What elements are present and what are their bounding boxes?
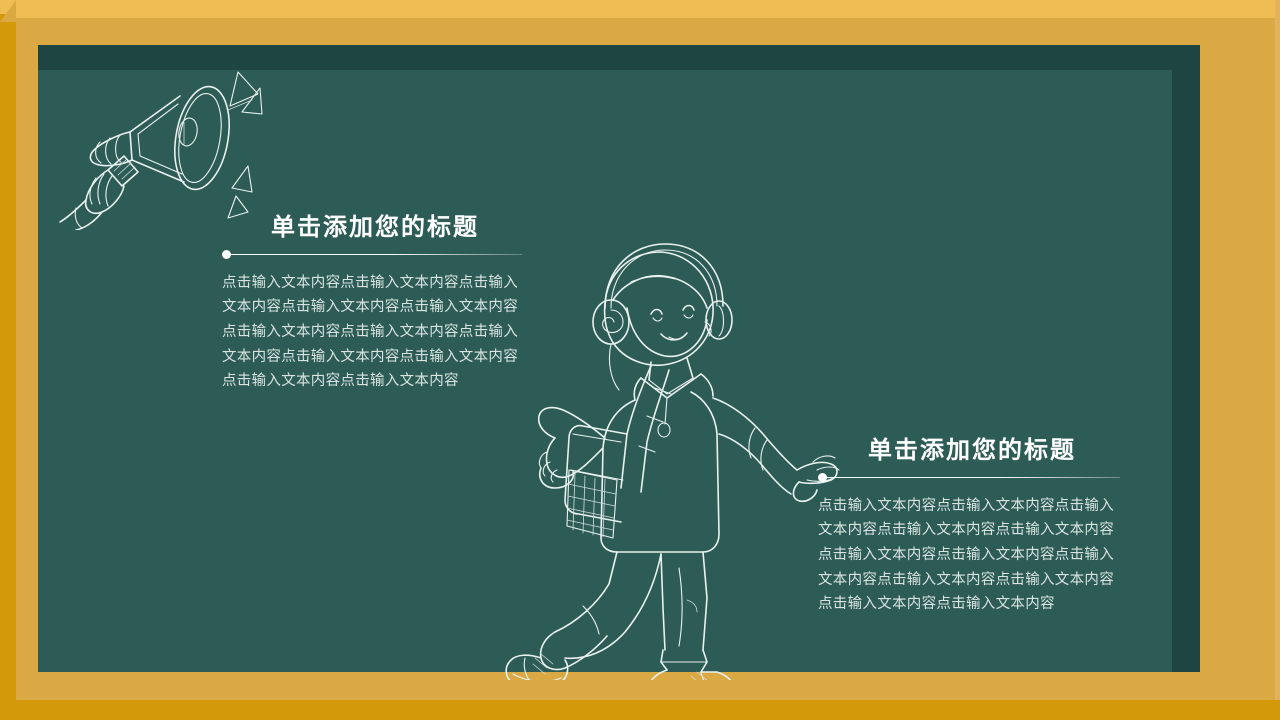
body-line: 点击输入文本内容点击输入文本内容 <box>818 592 1126 617</box>
frame-bottom-shadow <box>0 700 1280 720</box>
block-left-body[interactable]: 点击输入文本内容点击输入文本内容点击输入 文本内容点击输入文本内容点击输入文本内… <box>222 271 528 394</box>
frame-top-highlight <box>0 0 1280 18</box>
block-right-title[interactable]: 单击添加您的标题 <box>818 437 1126 466</box>
body-line: 文本内容点击输入文本内容点击输入文本内容 <box>818 518 1126 543</box>
body-line: 点击输入文本内容点击输入文本内容点击输入 <box>222 271 528 296</box>
text-block-left: 单击添加您的标题 点击输入文本内容点击输入文本内容点击输入 文本内容点击输入文本… <box>222 214 528 394</box>
body-line: 点击输入文本内容点击输入文本内容点击输入 <box>222 320 528 345</box>
divider-line <box>228 254 522 255</box>
block-right-divider <box>818 472 1126 484</box>
chalkboard-border-right <box>1172 45 1200 672</box>
megaphone-illustration <box>52 50 272 230</box>
block-right-body[interactable]: 点击输入文本内容点击输入文本内容点击输入 文本内容点击输入文本内容点击输入文本内… <box>818 494 1126 617</box>
block-left-title[interactable]: 单击添加您的标题 <box>222 214 528 243</box>
body-line: 文本内容点击输入文本内容点击输入文本内容 <box>222 345 528 370</box>
body-line: 文本内容点击输入文本内容点击输入文本内容 <box>222 295 528 320</box>
frame-left-shadow <box>0 14 16 704</box>
body-line: 点击输入文本内容点击输入文本内容点击输入 <box>818 494 1126 519</box>
body-line: 文本内容点击输入文本内容点击输入文本内容 <box>818 568 1126 593</box>
block-left-divider <box>222 249 528 261</box>
slide-canvas: 单击添加您的标题 点击输入文本内容点击输入文本内容点击输入 文本内容点击输入文本… <box>0 0 1280 720</box>
frame-right-highlight <box>1275 0 1280 720</box>
divider-dot <box>222 250 231 259</box>
body-line: 点击输入文本内容点击输入文本内容 <box>222 369 528 394</box>
text-block-right: 单击添加您的标题 点击输入文本内容点击输入文本内容点击输入 文本内容点击输入文本… <box>818 437 1126 617</box>
divider-dot <box>818 473 827 482</box>
divider-line <box>824 477 1120 478</box>
body-line: 点击输入文本内容点击输入文本内容点击输入 <box>818 543 1126 568</box>
